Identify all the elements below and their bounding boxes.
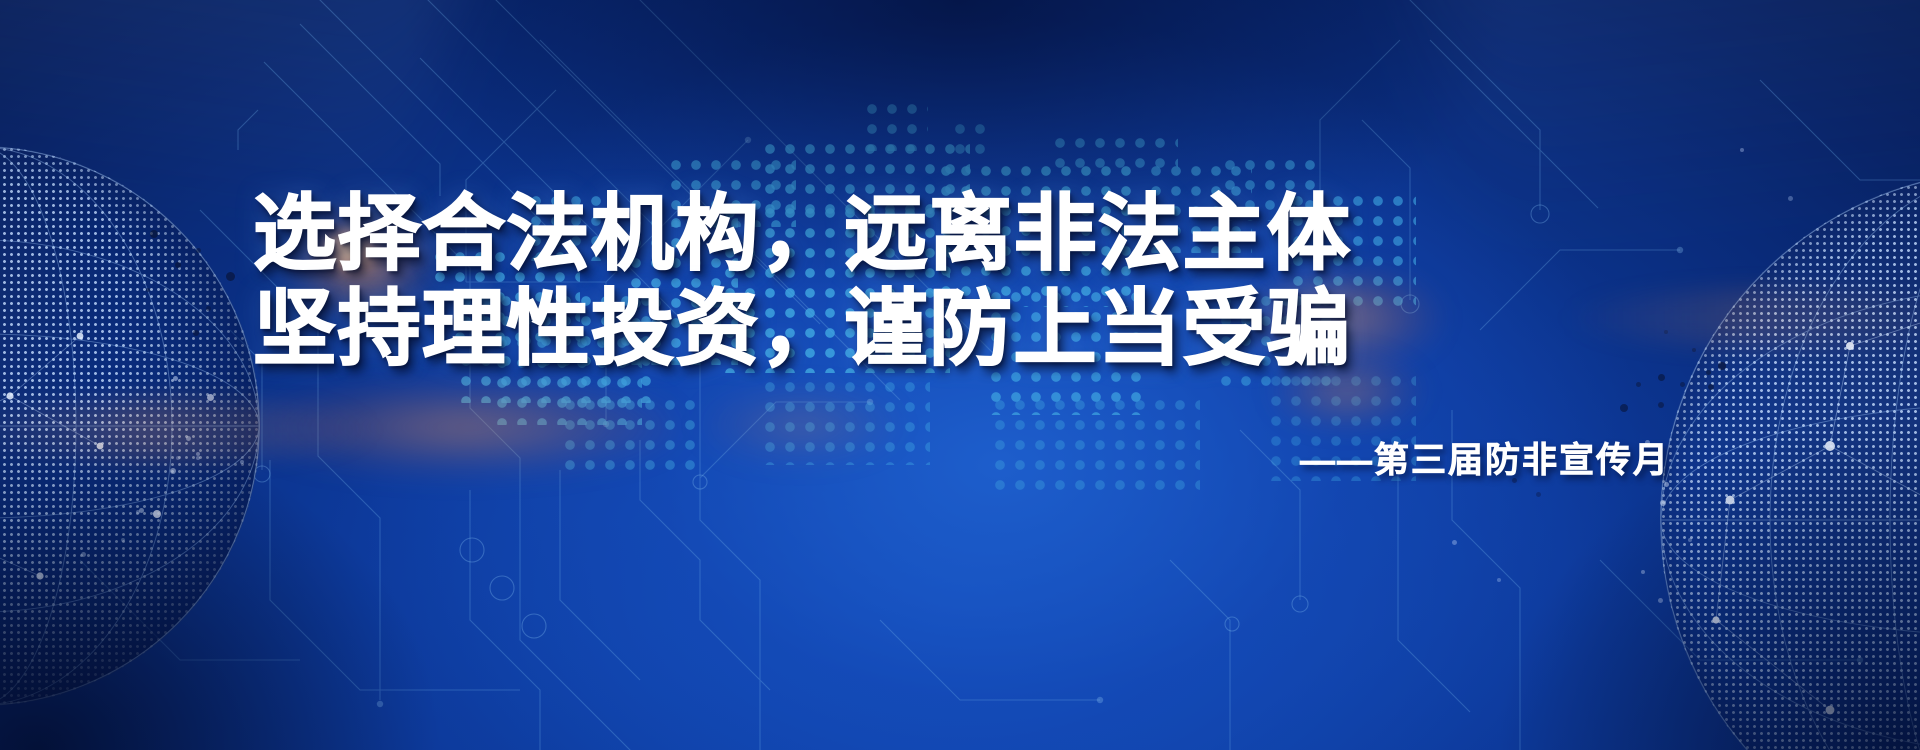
headline-line-2: 坚持理性投资，谨防上当受骗: [0, 281, 1920, 376]
headline-line-1: 选择合法机构，远离非法主体: [0, 186, 1920, 281]
attribution-line: ——第三届防非宣传月: [0, 432, 1920, 483]
promotional-banner: 选择合法机构，远离非法主体 坚持理性投资，谨防上当受骗 ——第三届防非宣传月: [0, 0, 1920, 750]
banner-text-block: 选择合法机构，远离非法主体 坚持理性投资，谨防上当受骗 ——第三届防非宣传月: [0, 186, 1920, 483]
